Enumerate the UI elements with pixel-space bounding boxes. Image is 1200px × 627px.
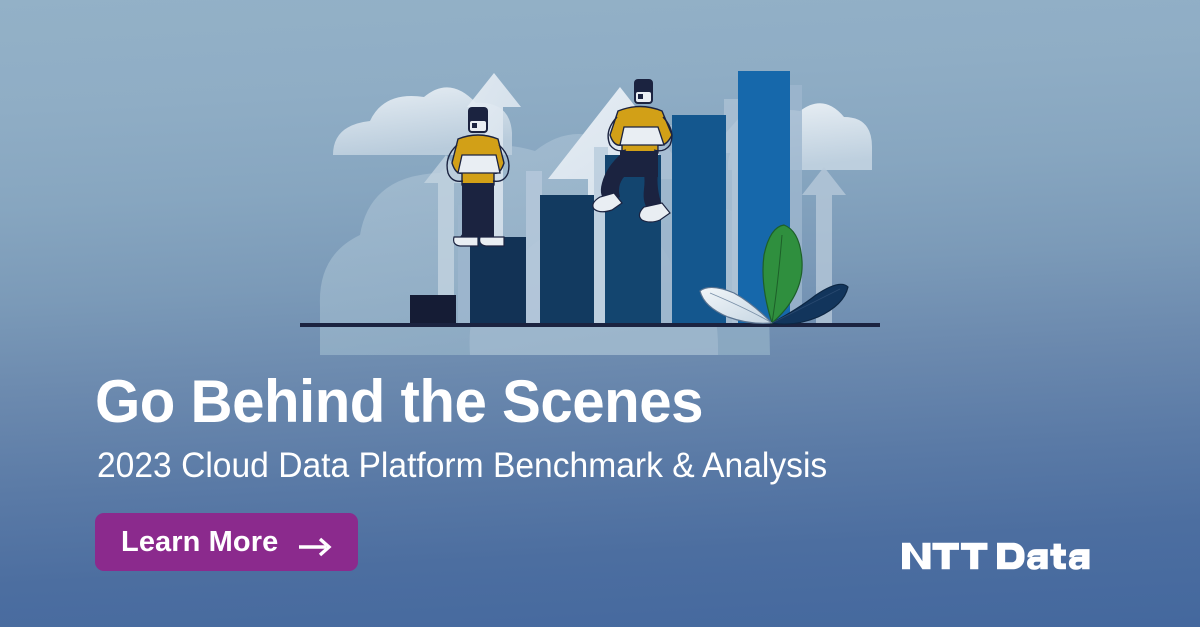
learn-more-label: Learn More [121, 526, 278, 559]
learn-more-button[interactable]: Learn More [95, 513, 358, 571]
growth-bar-chart-illustration [300, 55, 880, 355]
ntt-data-logo [902, 536, 1105, 576]
bar-3 [540, 195, 594, 323]
page-title: Go Behind the Scenes [95, 370, 703, 434]
bar-1 [410, 295, 456, 323]
arrow-right-icon [298, 532, 332, 552]
bar-2 [470, 237, 526, 323]
promotional-banner: Go Behind the Scenes 2023 Cloud Data Pla… [0, 0, 1200, 627]
page-subtitle: 2023 Cloud Data Platform Benchmark & Ana… [97, 445, 827, 487]
